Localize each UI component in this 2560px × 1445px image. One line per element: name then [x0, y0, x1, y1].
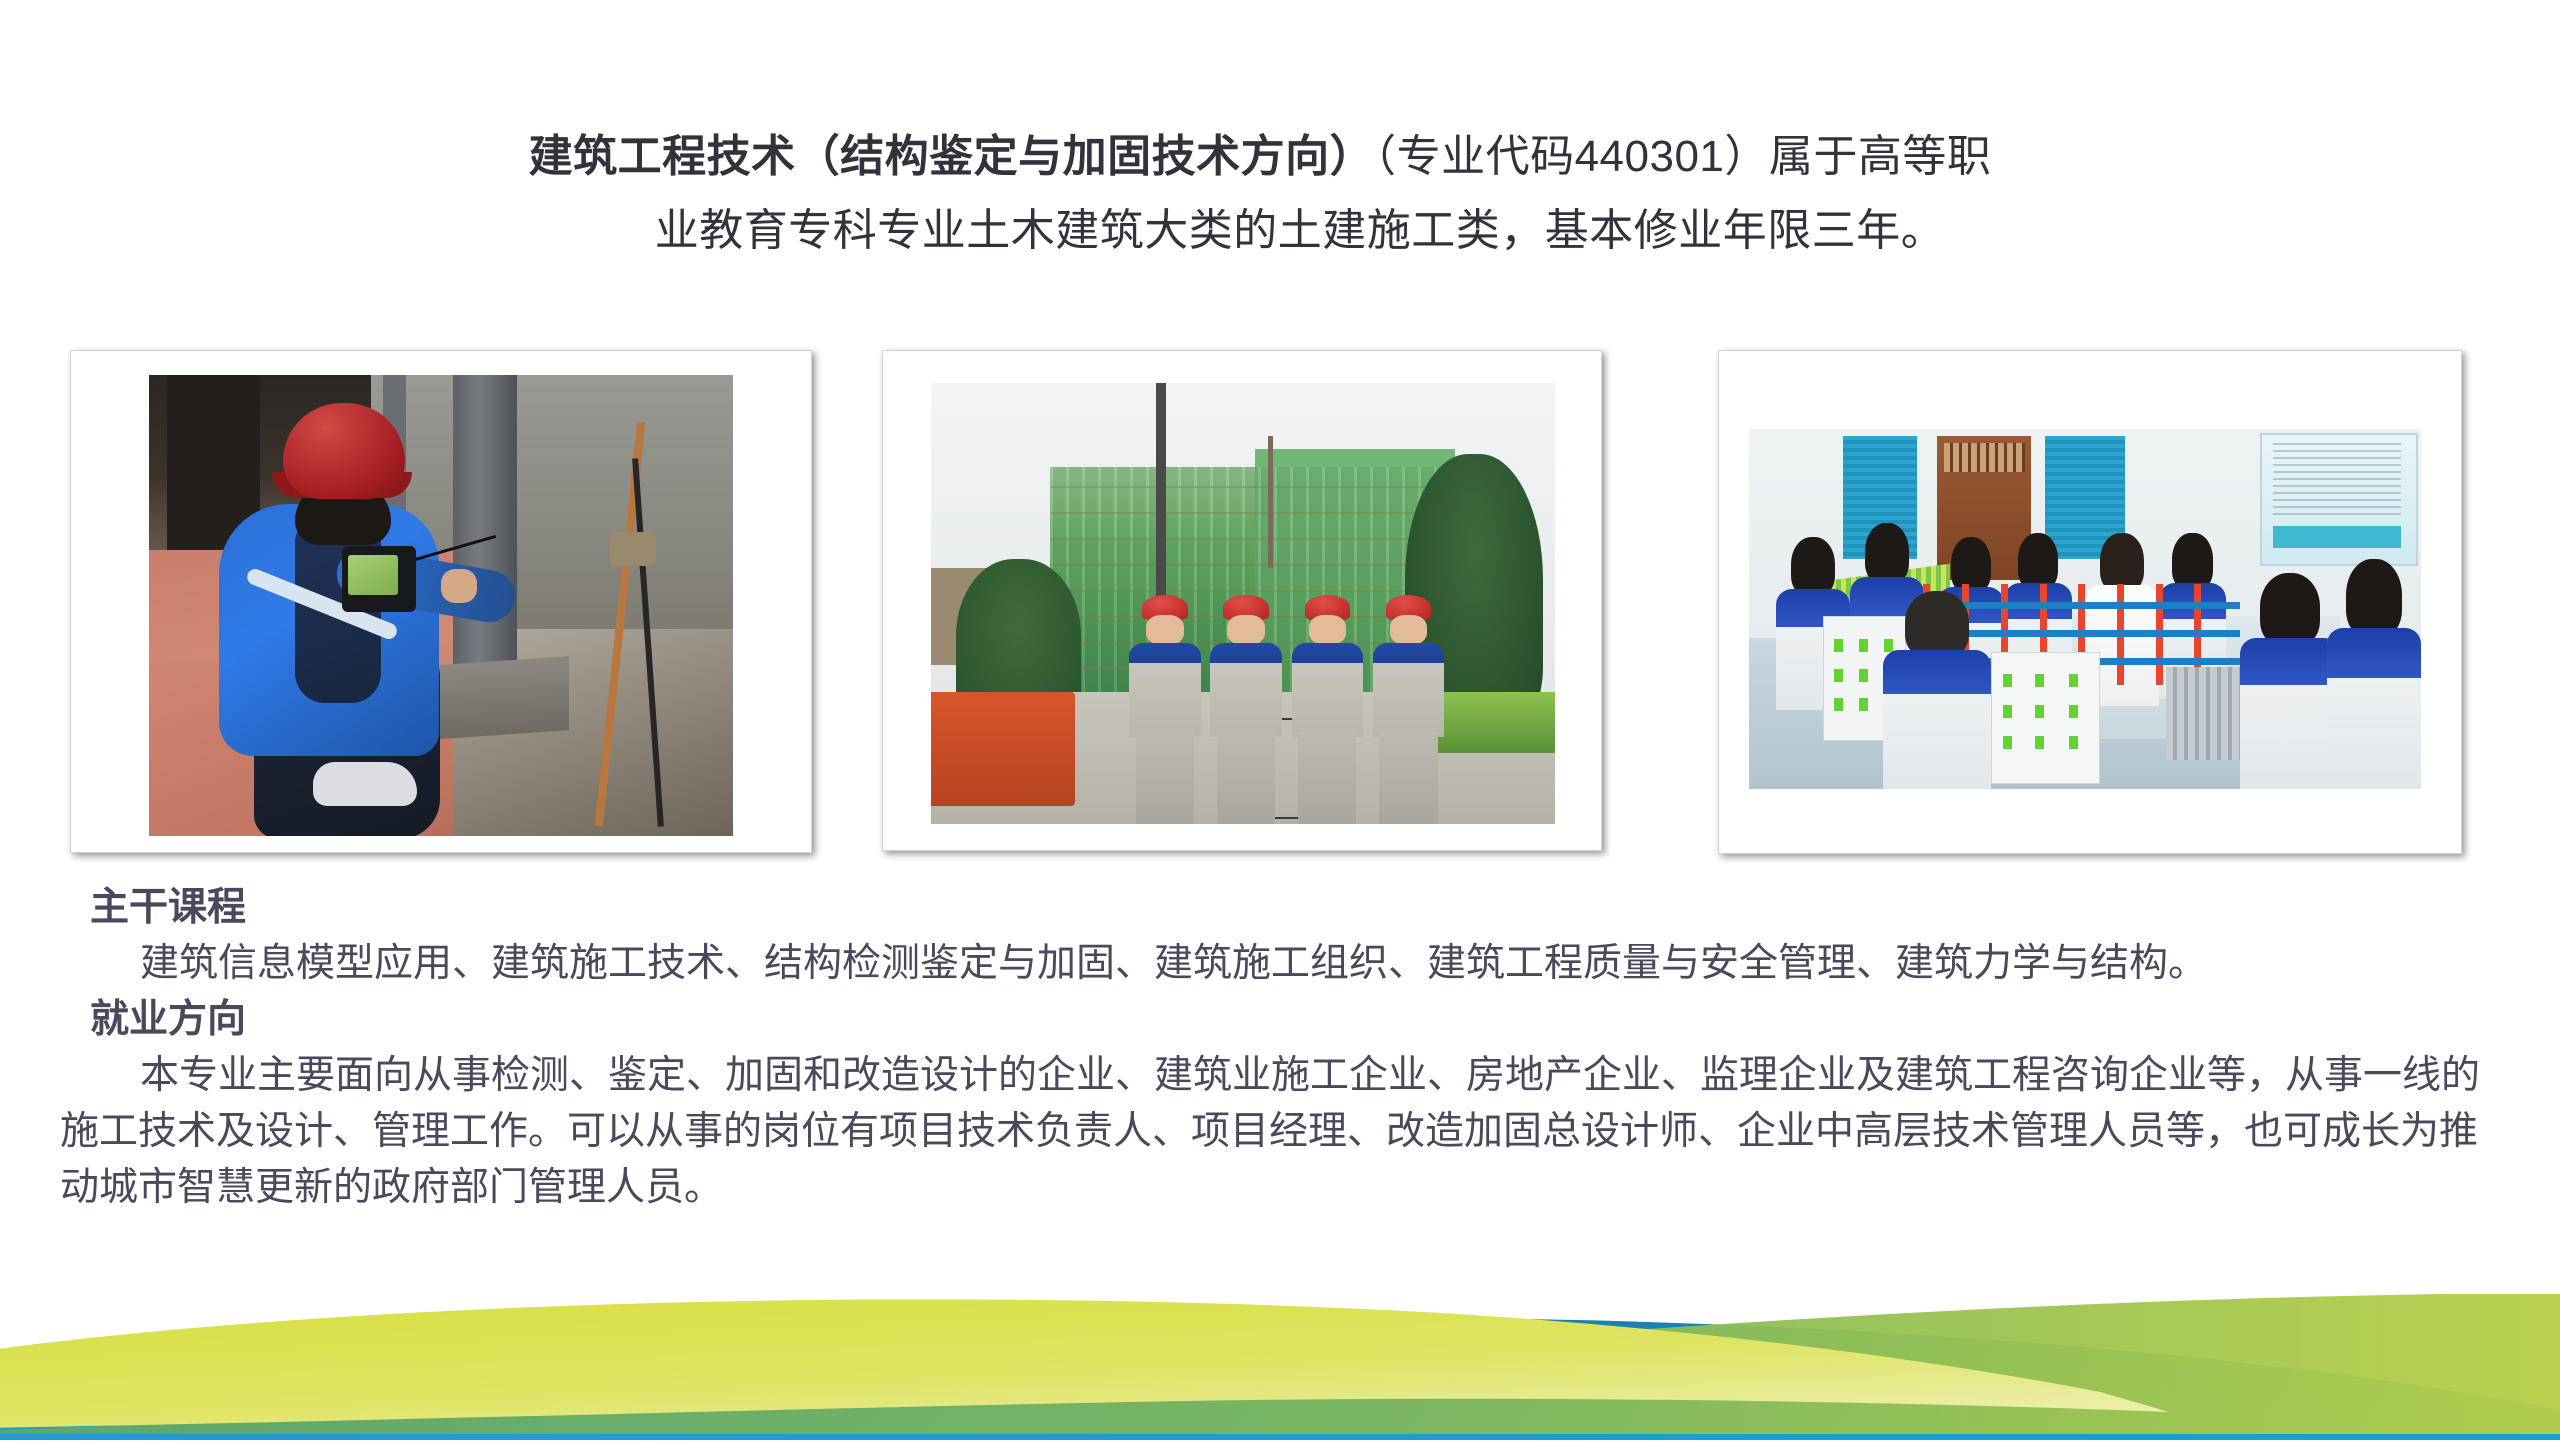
classroom-model-photo	[1749, 429, 2421, 789]
photo-frame-classroom-model	[1718, 350, 2462, 854]
title-line-1: 建筑工程技术（结构鉴定与加固技术方向）（专业代码440301）属于高等职	[330, 120, 2230, 194]
section-heading-core-courses: 主干课程	[90, 880, 2510, 936]
wave-graphic	[0, 1260, 2560, 1440]
page-title: 建筑工程技术（结构鉴定与加固技术方向）（专业代码440301）属于高等职 业教育…	[330, 120, 2230, 268]
section-heading-employment: 就业方向	[90, 992, 2510, 1048]
title-line-2: 业教育专科专业土木建筑大类的土建施工类，基本修业年限三年。	[330, 194, 2230, 268]
title-strong-part: 建筑工程技术（结构鉴定与加固技术方向）	[529, 132, 1375, 181]
field-inspection-photo	[149, 375, 733, 836]
section-body-core-courses: 建筑信息模型应用、建筑施工技术、结构检测鉴定与加固、建筑施工组织、建筑工程质量与…	[60, 936, 2510, 992]
photo-frame-construction-site	[882, 350, 1602, 851]
photo-gallery	[0, 350, 2560, 860]
decorative-wave-footer	[0, 1260, 2560, 1440]
title-normal-part: （专业代码440301）属于高等职	[1374, 132, 1991, 181]
content-sections: 主干课程 建筑信息模型应用、建筑施工技术、结构检测鉴定与加固、建筑施工组织、建筑…	[60, 880, 2510, 1216]
photo-frame-field-inspection	[70, 350, 812, 853]
construction-site-students-photo	[931, 383, 1555, 824]
section-body-employment: 本专业主要面向从事检测、鉴定、加固和改造设计的企业、建筑业施工企业、房地产企业、…	[60, 1048, 2510, 1216]
